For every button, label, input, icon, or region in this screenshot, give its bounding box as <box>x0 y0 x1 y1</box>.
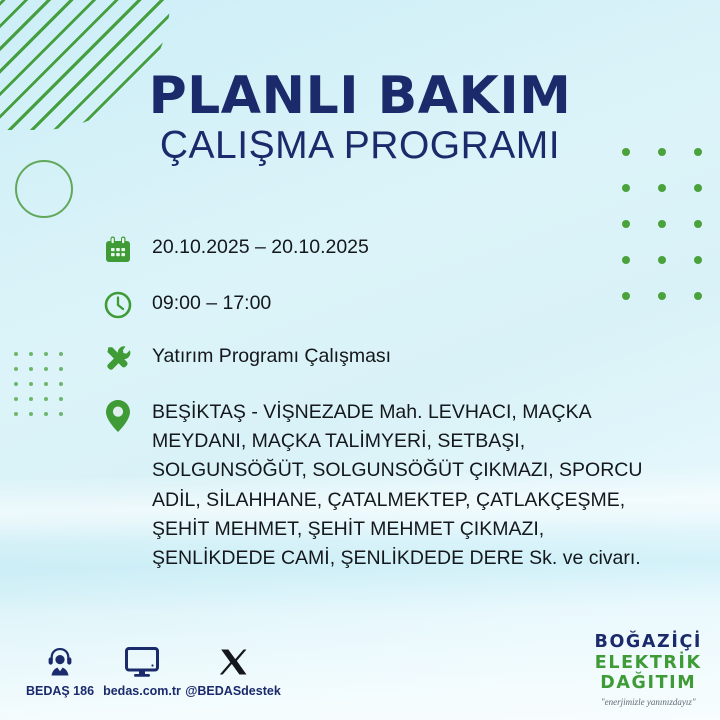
info-row-address: BEŞİKTAŞ - VİŞNEZADE Mah. LEVHACI, MAÇKA… <box>98 398 642 573</box>
address-line: ŞENLİKDEDE CAMİ, ŞENLİKDEDE DERE Sk. ve … <box>152 544 642 573</box>
bogazici-elektrik-dagitim-logo: BOĞAZİÇİ ELEKTRİK DAĞITIM "enerjimizle y… <box>595 634 702 707</box>
brand-line-3: DAĞITIM <box>595 675 702 693</box>
address-line: BEŞİKTAŞ - VİŞNEZADE Mah. LEVHACI, MAÇKA <box>152 398 642 427</box>
tools-icon <box>98 342 138 374</box>
planned-maintenance-poster: PLANLI BAKIM ÇALIŞMA PROGRAMI 20.1 <box>0 0 720 720</box>
calendar-icon <box>98 233 138 265</box>
brand-line-1: BOĞAZİÇİ <box>595 634 702 652</box>
page-title: PLANLI BAKIM <box>0 66 720 126</box>
brand-line-2: ELEKTRİK <box>595 655 702 673</box>
contact-website[interactable]: bedas.com.tr <box>100 640 184 698</box>
address-line: MEYDANI, MAÇKA TALİMYERİ, SETBAŞI, <box>152 427 642 456</box>
address-line: SOLGUNSÖĞÜT, SOLGUNSÖĞÜT ÇIKMAZI, SPORCU <box>152 456 642 485</box>
dot-grid-decoration-left <box>14 352 74 422</box>
address-line: ADİL, SİLAHHANE, ÇATALMEKTEP, ÇATLAKÇEŞM… <box>152 486 642 515</box>
contact-website-label: bedas.com.tr <box>100 684 184 698</box>
monitor-icon <box>100 640 184 678</box>
contact-x-label: @BEDASdestek <box>183 684 283 698</box>
info-row-date: 20.10.2025 – 20.10.2025 <box>98 233 369 265</box>
contact-phone[interactable]: BEDAŞ 186 <box>18 640 102 698</box>
address-line: ŞEHİT MEHMET, ŞEHİT MEHMET ÇIKMAZI, <box>152 515 642 544</box>
x-twitter-icon <box>183 640 283 678</box>
brand-tagline: "enerjimizle yanınızdayız" <box>595 698 702 707</box>
location-pin-icon <box>98 398 138 434</box>
call-center-agent-icon <box>18 640 102 678</box>
time-range-value: 09:00 – 17:00 <box>152 289 271 318</box>
date-range-value: 20.10.2025 – 20.10.2025 <box>152 233 369 262</box>
info-row-time: 09:00 – 17:00 <box>98 289 271 321</box>
circle-outline-decoration <box>15 160 73 218</box>
clock-icon <box>98 289 138 321</box>
contact-phone-label: BEDAŞ 186 <box>18 684 102 698</box>
info-row-work-type: Yatırım Programı Çalışması <box>98 342 391 374</box>
contact-x-account[interactable]: @BEDASdestek <box>183 640 283 698</box>
work-type-value: Yatırım Programı Çalışması <box>152 342 391 371</box>
address-value: BEŞİKTAŞ - VİŞNEZADE Mah. LEVHACI, MAÇKA… <box>152 398 642 573</box>
dot-grid-decoration-right <box>622 148 712 298</box>
page-subtitle: ÇALIŞMA PROGRAMI <box>0 124 720 168</box>
